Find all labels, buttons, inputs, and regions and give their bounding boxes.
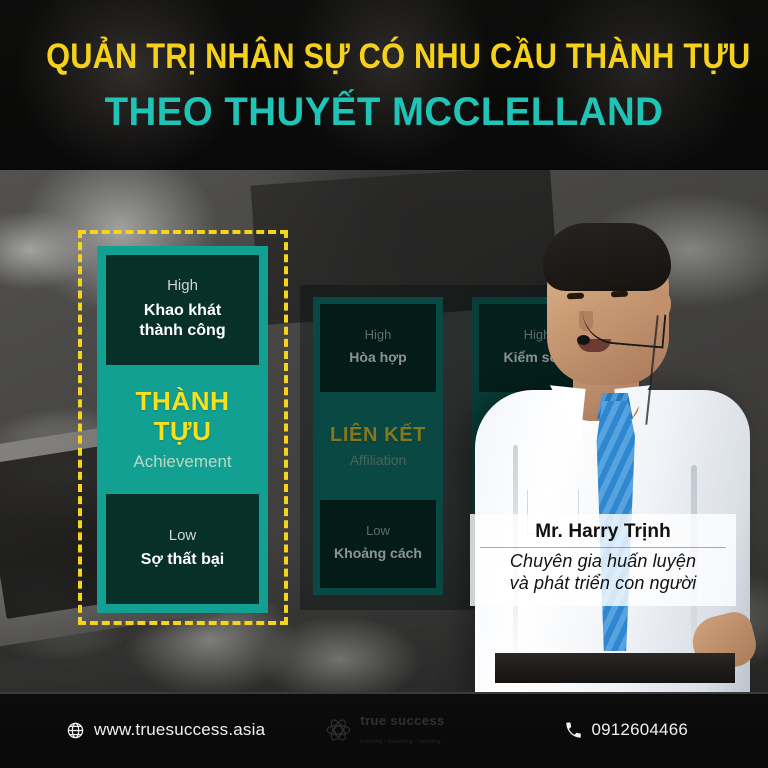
card-achievement-high-text-line1: Khao khát xyxy=(144,301,221,321)
footer-logo: true success trainning - consulting - co… xyxy=(323,712,444,748)
card-affiliation-title-vi: LIÊN KẾT xyxy=(330,424,426,447)
card-achievement[interactable]: High Khao khát thành công THÀNH TỰU Achi… xyxy=(97,246,268,613)
header-band xyxy=(0,0,768,170)
card-achievement-high-box: High Khao khát thành công xyxy=(106,255,259,365)
page-title-line1: QUẢN TRỊ NHÂN SỰ CÓ NHU CẦU THÀNH TỰU xyxy=(46,39,722,74)
true-success-logo-icon xyxy=(323,715,353,745)
nameplate-divider xyxy=(480,547,726,548)
footer-logo-text: true success trainning - consulting - co… xyxy=(360,712,444,748)
phone-icon xyxy=(564,721,583,740)
speaker-name: Mr. Harry Trịnh xyxy=(480,520,726,544)
footer-brand-tagline: trainning - consulting - coaching xyxy=(360,739,441,745)
card-affiliation-center: LIÊN KẾT Affiliation xyxy=(320,392,436,500)
card-achievement-low-text: Sợ thất bại xyxy=(141,550,224,570)
page-title-line2: THEO THUYẾT MCCLELLAND xyxy=(15,92,752,132)
speaker-role-line1: Chuyên gia huấn luyện xyxy=(480,550,726,572)
card-affiliation-high-box: High Hòa hợp xyxy=(320,304,436,392)
poster-canvas: QUẢN TRỊ NHÂN SỰ CÓ NHU CẦU THÀNH TỰU TH… xyxy=(0,0,768,768)
footer-brand-name: true success xyxy=(360,713,444,728)
card-achievement-title-vi: THÀNH TỰU xyxy=(106,387,259,447)
speaker-eye-left xyxy=(567,293,584,300)
footer-bar: www.truesuccess.asia true success trainn… xyxy=(0,692,768,768)
speaker-nameplate: Mr. Harry Trịnh Chuyên gia huấn luyện và… xyxy=(470,514,736,606)
speaker-belt xyxy=(495,653,735,683)
card-achievement-high-level: High xyxy=(167,276,198,296)
card-achievement-center: THÀNH TỰU Achievement xyxy=(106,365,259,494)
card-affiliation-body: High Hòa hợp LIÊN KẾT Affiliation Low Kh… xyxy=(313,297,443,595)
card-affiliation-low-level: Low xyxy=(366,523,390,540)
speaker-photo xyxy=(455,215,768,692)
speaker-eye-right xyxy=(611,291,628,298)
footer-phone[interactable]: 0912604466 xyxy=(564,720,688,740)
speaker-hair xyxy=(543,223,671,291)
card-affiliation-low-text: Khoảng cách xyxy=(334,545,422,563)
card-achievement-high-text-line2: thành công xyxy=(139,321,225,341)
card-achievement-title-en: Achievement xyxy=(133,452,231,472)
globe-icon xyxy=(66,721,85,740)
card-affiliation-high-text: Hòa hợp xyxy=(349,349,406,367)
speaker-role-line2: và phát triển con người xyxy=(480,572,726,594)
headset-microphone-tip xyxy=(577,335,590,345)
card-affiliation-high-level: High xyxy=(365,327,392,344)
card-achievement-body: High Khao khát thành công THÀNH TỰU Achi… xyxy=(97,246,268,613)
card-affiliation-title-en: Affiliation xyxy=(350,452,407,469)
card-affiliation[interactable]: High Hòa hợp LIÊN KẾT Affiliation Low Kh… xyxy=(313,297,443,595)
card-achievement-low-box: Low Sợ thất bại xyxy=(106,494,259,604)
footer-website-label: www.truesuccess.asia xyxy=(94,720,265,740)
speaker-collar-left xyxy=(544,385,585,440)
card-affiliation-low-box: Low Khoảng cách xyxy=(320,500,436,588)
card-achievement-low-level: Low xyxy=(169,526,197,546)
footer-phone-label: 0912604466 xyxy=(591,720,688,740)
footer-website[interactable]: www.truesuccess.asia xyxy=(66,720,265,740)
footer-top-edge xyxy=(0,692,768,694)
